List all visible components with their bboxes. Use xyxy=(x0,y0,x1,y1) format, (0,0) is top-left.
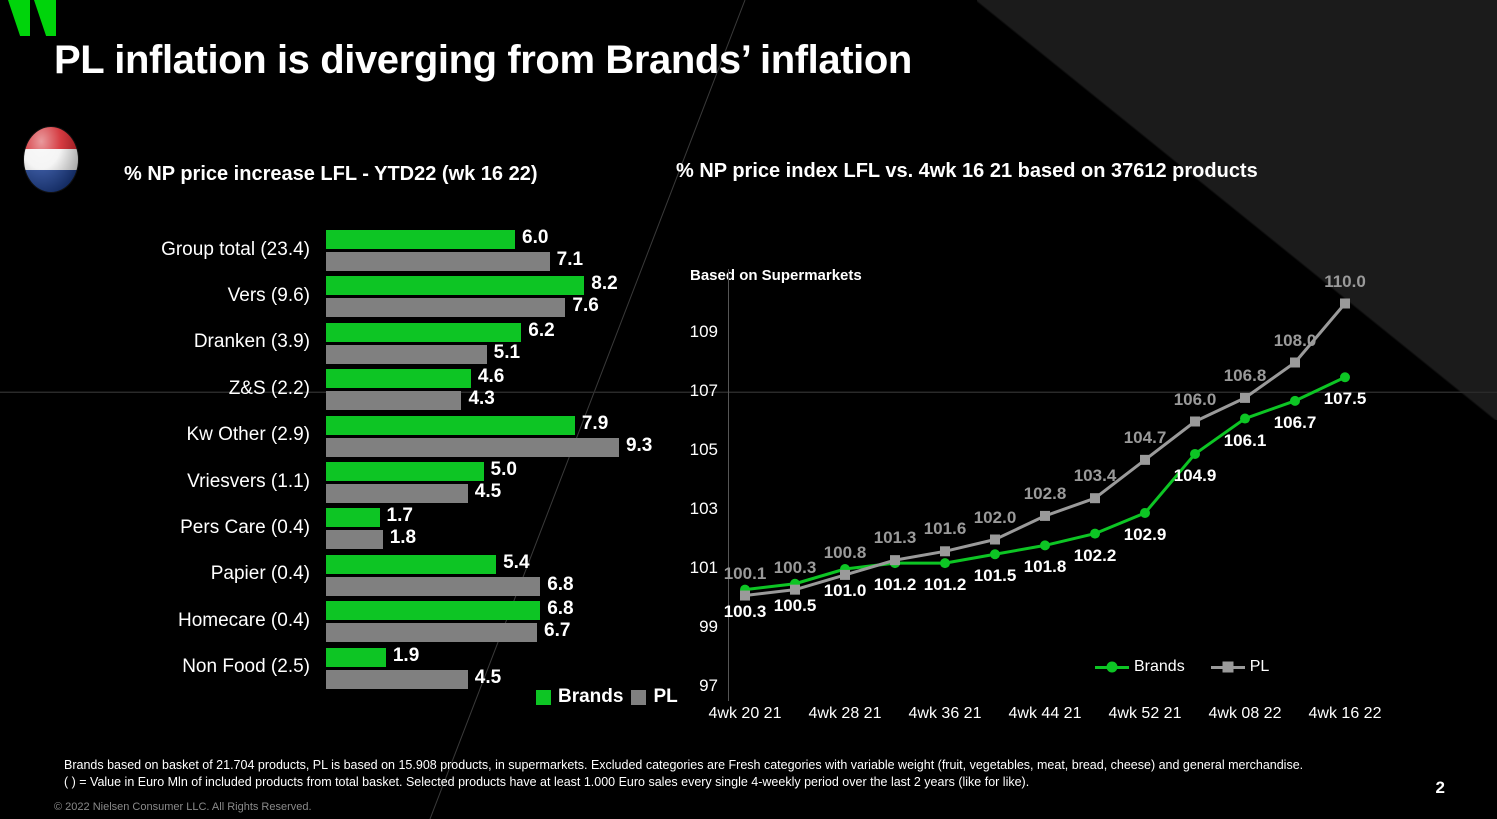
legend-label: Brands xyxy=(558,686,623,708)
bar-value-label: 4.5 xyxy=(475,667,501,689)
bar-category-label: Vers (9.6) xyxy=(20,285,310,307)
data-point-marker-pl xyxy=(1340,299,1350,309)
bar-chart: Group total (23.4)6.07.1Vers (9.6)8.27.6… xyxy=(0,222,690,697)
bar-category-label: Homecare (0.4) xyxy=(20,610,310,632)
bar-value-label: 4.6 xyxy=(478,366,504,388)
bar-group: Papier (0.4)5.46.8 xyxy=(0,555,690,596)
bar-chart-legend: BrandsPL xyxy=(536,686,678,708)
legend-line-icon xyxy=(1095,666,1129,669)
bar-row: 8.2 xyxy=(326,276,686,295)
data-point-label-pl: 102.0 xyxy=(974,508,1017,528)
bar-value-label: 4.5 xyxy=(475,481,501,503)
bar-value-label: 7.1 xyxy=(557,249,583,271)
data-point-label-brands: 101.2 xyxy=(874,575,917,595)
bar-group: Group total (23.4)6.07.1 xyxy=(0,230,690,271)
bar-row: 4.3 xyxy=(326,391,686,410)
data-point-marker-brands xyxy=(940,558,950,568)
data-point-label-brands: 104.9 xyxy=(1174,466,1217,486)
bar-value-label: 7.6 xyxy=(572,295,598,317)
nielsen-logo-icon xyxy=(8,0,70,36)
line-chart-plot xyxy=(670,255,1490,725)
legend-marker-icon xyxy=(1222,662,1233,673)
bar-group: Kw Other (2.9)7.99.3 xyxy=(0,416,690,457)
bar-row: 7.6 xyxy=(326,298,686,317)
bar-value-label: 1.9 xyxy=(393,645,419,667)
data-point-marker-pl xyxy=(1040,511,1050,521)
bar-pl xyxy=(326,530,383,549)
bar-brands xyxy=(326,508,380,527)
bar-value-label: 5.4 xyxy=(503,552,529,574)
bar-value-label: 5.1 xyxy=(494,342,520,364)
data-point-label-brands: 101.8 xyxy=(1024,557,1067,577)
line-chart: Based on Supermarkets 109107105103101999… xyxy=(670,255,1490,725)
data-point-label-brands: 107.5 xyxy=(1324,389,1367,409)
bar-row: 6.0 xyxy=(326,230,686,249)
bar-value-label: 7.9 xyxy=(582,413,608,435)
bar-category-label: Dranken (3.9) xyxy=(20,331,310,353)
data-point-marker-pl xyxy=(940,546,950,556)
bar-value-label: 6.0 xyxy=(522,227,548,249)
data-point-label-brands: 106.1 xyxy=(1224,431,1267,451)
bar-pl xyxy=(326,484,468,503)
data-point-marker-brands xyxy=(1240,414,1250,424)
legend-item-brands[interactable]: Brands xyxy=(536,686,623,708)
bar-group: Homecare (0.4)6.86.7 xyxy=(0,601,690,642)
data-point-label-pl: 100.8 xyxy=(824,543,867,563)
bar-brands xyxy=(326,601,540,620)
bar-row: 4.6 xyxy=(326,369,686,388)
bar-brands xyxy=(326,369,471,388)
data-point-label-pl: 101.3 xyxy=(874,528,917,548)
bar-row: 7.1 xyxy=(326,252,686,271)
data-point-label-brands: 106.7 xyxy=(1274,413,1317,433)
bar-row: 6.2 xyxy=(326,323,686,342)
netherlands-flag-icon xyxy=(24,127,78,192)
bar-pl xyxy=(326,438,619,457)
bar-row: 5.1 xyxy=(326,345,686,364)
legend-swatch-icon xyxy=(631,690,646,705)
bar-row: 5.0 xyxy=(326,462,686,481)
bar-group: Vriesvers (1.1)5.04.5 xyxy=(0,462,690,503)
bar-pl xyxy=(326,670,468,689)
bar-brands xyxy=(326,230,515,249)
bar-value-label: 4.3 xyxy=(468,388,494,410)
data-point-marker-pl xyxy=(840,570,850,580)
data-point-label-brands: 100.5 xyxy=(774,596,817,616)
bar-brands xyxy=(326,648,386,667)
data-point-label-pl: 104.7 xyxy=(1124,428,1167,448)
bar-group: Non Food (2.5)1.94.5 xyxy=(0,648,690,689)
data-point-marker-pl xyxy=(1140,455,1150,465)
copyright-text: © 2022 Nielsen Consumer LLC. All Rights … xyxy=(54,801,312,813)
bar-category-label: Group total (23.4) xyxy=(20,239,310,261)
data-point-label-pl: 102.8 xyxy=(1024,484,1067,504)
data-point-label-pl: 100.3 xyxy=(774,558,817,578)
bar-category-label: Papier (0.4) xyxy=(20,563,310,585)
bar-row: 6.8 xyxy=(326,601,686,620)
bar-value-label: 9.3 xyxy=(626,435,652,457)
data-point-marker-brands xyxy=(1290,396,1300,406)
data-point-marker-pl xyxy=(1240,393,1250,403)
data-point-marker-brands xyxy=(1140,508,1150,518)
bar-brands xyxy=(326,323,521,342)
data-point-label-brands: 101.0 xyxy=(824,581,867,601)
bar-pl xyxy=(326,391,461,410)
data-point-marker-pl xyxy=(990,535,1000,545)
data-point-marker-pl xyxy=(1290,358,1300,368)
data-point-label-pl: 108.0 xyxy=(1274,331,1317,351)
bar-group: Vers (9.6)8.27.6 xyxy=(0,276,690,317)
data-point-label-brands: 101.5 xyxy=(974,566,1017,586)
bar-row: 6.7 xyxy=(326,623,686,642)
data-point-label-brands: 101.2 xyxy=(924,575,967,595)
data-point-label-pl: 103.4 xyxy=(1074,466,1117,486)
slide-canvas: PL inflation is diverging from Brands’ i… xyxy=(0,0,1497,819)
data-point-label-pl: 110.0 xyxy=(1324,272,1366,292)
page-title: PL inflation is diverging from Brands’ i… xyxy=(54,38,912,83)
bar-category-label: Pers Care (0.4) xyxy=(20,517,310,539)
bar-value-label: 6.2 xyxy=(528,320,554,342)
data-point-marker-pl xyxy=(890,555,900,565)
footnote-line-1: Brands based on basket of 21.704 product… xyxy=(64,757,1464,774)
line-chart-legend: BrandsPL xyxy=(1095,658,1269,676)
bar-category-label: Vriesvers (1.1) xyxy=(20,471,310,493)
bar-row: 9.3 xyxy=(326,438,686,457)
footnote-line-2: ( ) = Value in Euro Mln of included prod… xyxy=(64,774,1464,791)
legend-marker-icon xyxy=(1107,662,1118,673)
bar-row: 1.9 xyxy=(326,648,686,667)
data-point-marker-brands xyxy=(1190,449,1200,459)
bar-pl xyxy=(326,577,540,596)
data-point-label-pl: 106.8 xyxy=(1224,366,1267,386)
data-point-marker-brands xyxy=(990,549,1000,559)
left-chart-subtitle: % NP price increase LFL - YTD22 (wk 16 2… xyxy=(124,163,538,186)
data-point-label-brands: 102.2 xyxy=(1074,546,1117,566)
bar-group: Pers Care (0.4)1.71.8 xyxy=(0,508,690,549)
data-point-marker-brands xyxy=(1040,540,1050,550)
bar-row: 1.8 xyxy=(326,530,686,549)
bar-group: Dranken (3.9)6.25.1 xyxy=(0,323,690,364)
bar-row: 4.5 xyxy=(326,484,686,503)
bar-value-label: 8.2 xyxy=(591,273,617,295)
data-point-label-pl: 100.1 xyxy=(724,564,767,584)
bar-pl xyxy=(326,298,565,317)
data-point-marker-brands xyxy=(1340,372,1350,382)
bar-row: 1.7 xyxy=(326,508,686,527)
bar-value-label: 5.0 xyxy=(491,459,517,481)
bar-brands xyxy=(326,555,496,574)
bar-category-label: Z&S (2.2) xyxy=(20,378,310,400)
right-chart-subtitle: % NP price index LFL vs. 4wk 16 21 based… xyxy=(676,160,1258,183)
bar-brands xyxy=(326,416,575,435)
page-number: 2 xyxy=(1436,778,1445,798)
bar-brands xyxy=(326,276,584,295)
legend-item-brands[interactable]: Brands xyxy=(1095,658,1185,676)
data-point-label-brands: 102.9 xyxy=(1124,525,1167,545)
data-point-marker-brands xyxy=(1090,529,1100,539)
bar-pl xyxy=(326,252,550,271)
bar-category-label: Kw Other (2.9) xyxy=(20,424,310,446)
bar-value-label: 1.7 xyxy=(387,505,413,527)
data-point-label-pl: 106.0 xyxy=(1174,390,1217,410)
bar-brands xyxy=(326,462,484,481)
bar-row: 7.9 xyxy=(326,416,686,435)
data-point-marker-pl xyxy=(1190,417,1200,427)
legend-swatch-icon xyxy=(536,690,551,705)
data-point-marker-pl xyxy=(790,585,800,595)
data-point-label-brands: 100.3 xyxy=(724,602,767,622)
data-point-marker-pl xyxy=(1090,493,1100,503)
legend-line-icon xyxy=(1211,666,1245,669)
bar-group: Z&S (2.2)4.64.3 xyxy=(0,369,690,410)
bar-row: 5.4 xyxy=(326,555,686,574)
data-point-marker-pl xyxy=(740,591,750,601)
data-point-label-pl: 101.6 xyxy=(924,519,967,539)
legend-label: Brands xyxy=(1134,658,1185,676)
bar-value-label: 1.8 xyxy=(390,527,416,549)
legend-label: PL xyxy=(1250,658,1270,676)
bar-value-label: 6.8 xyxy=(547,574,573,596)
bar-category-label: Non Food (2.5) xyxy=(20,656,310,678)
bar-pl xyxy=(326,345,487,364)
legend-item-pl[interactable]: PL xyxy=(1211,658,1270,676)
bar-value-label: 6.7 xyxy=(544,620,570,642)
footnote: Brands based on basket of 21.704 product… xyxy=(64,757,1464,791)
bar-pl xyxy=(326,623,537,642)
bar-row: 6.8 xyxy=(326,577,686,596)
bar-value-label: 6.8 xyxy=(547,598,573,620)
